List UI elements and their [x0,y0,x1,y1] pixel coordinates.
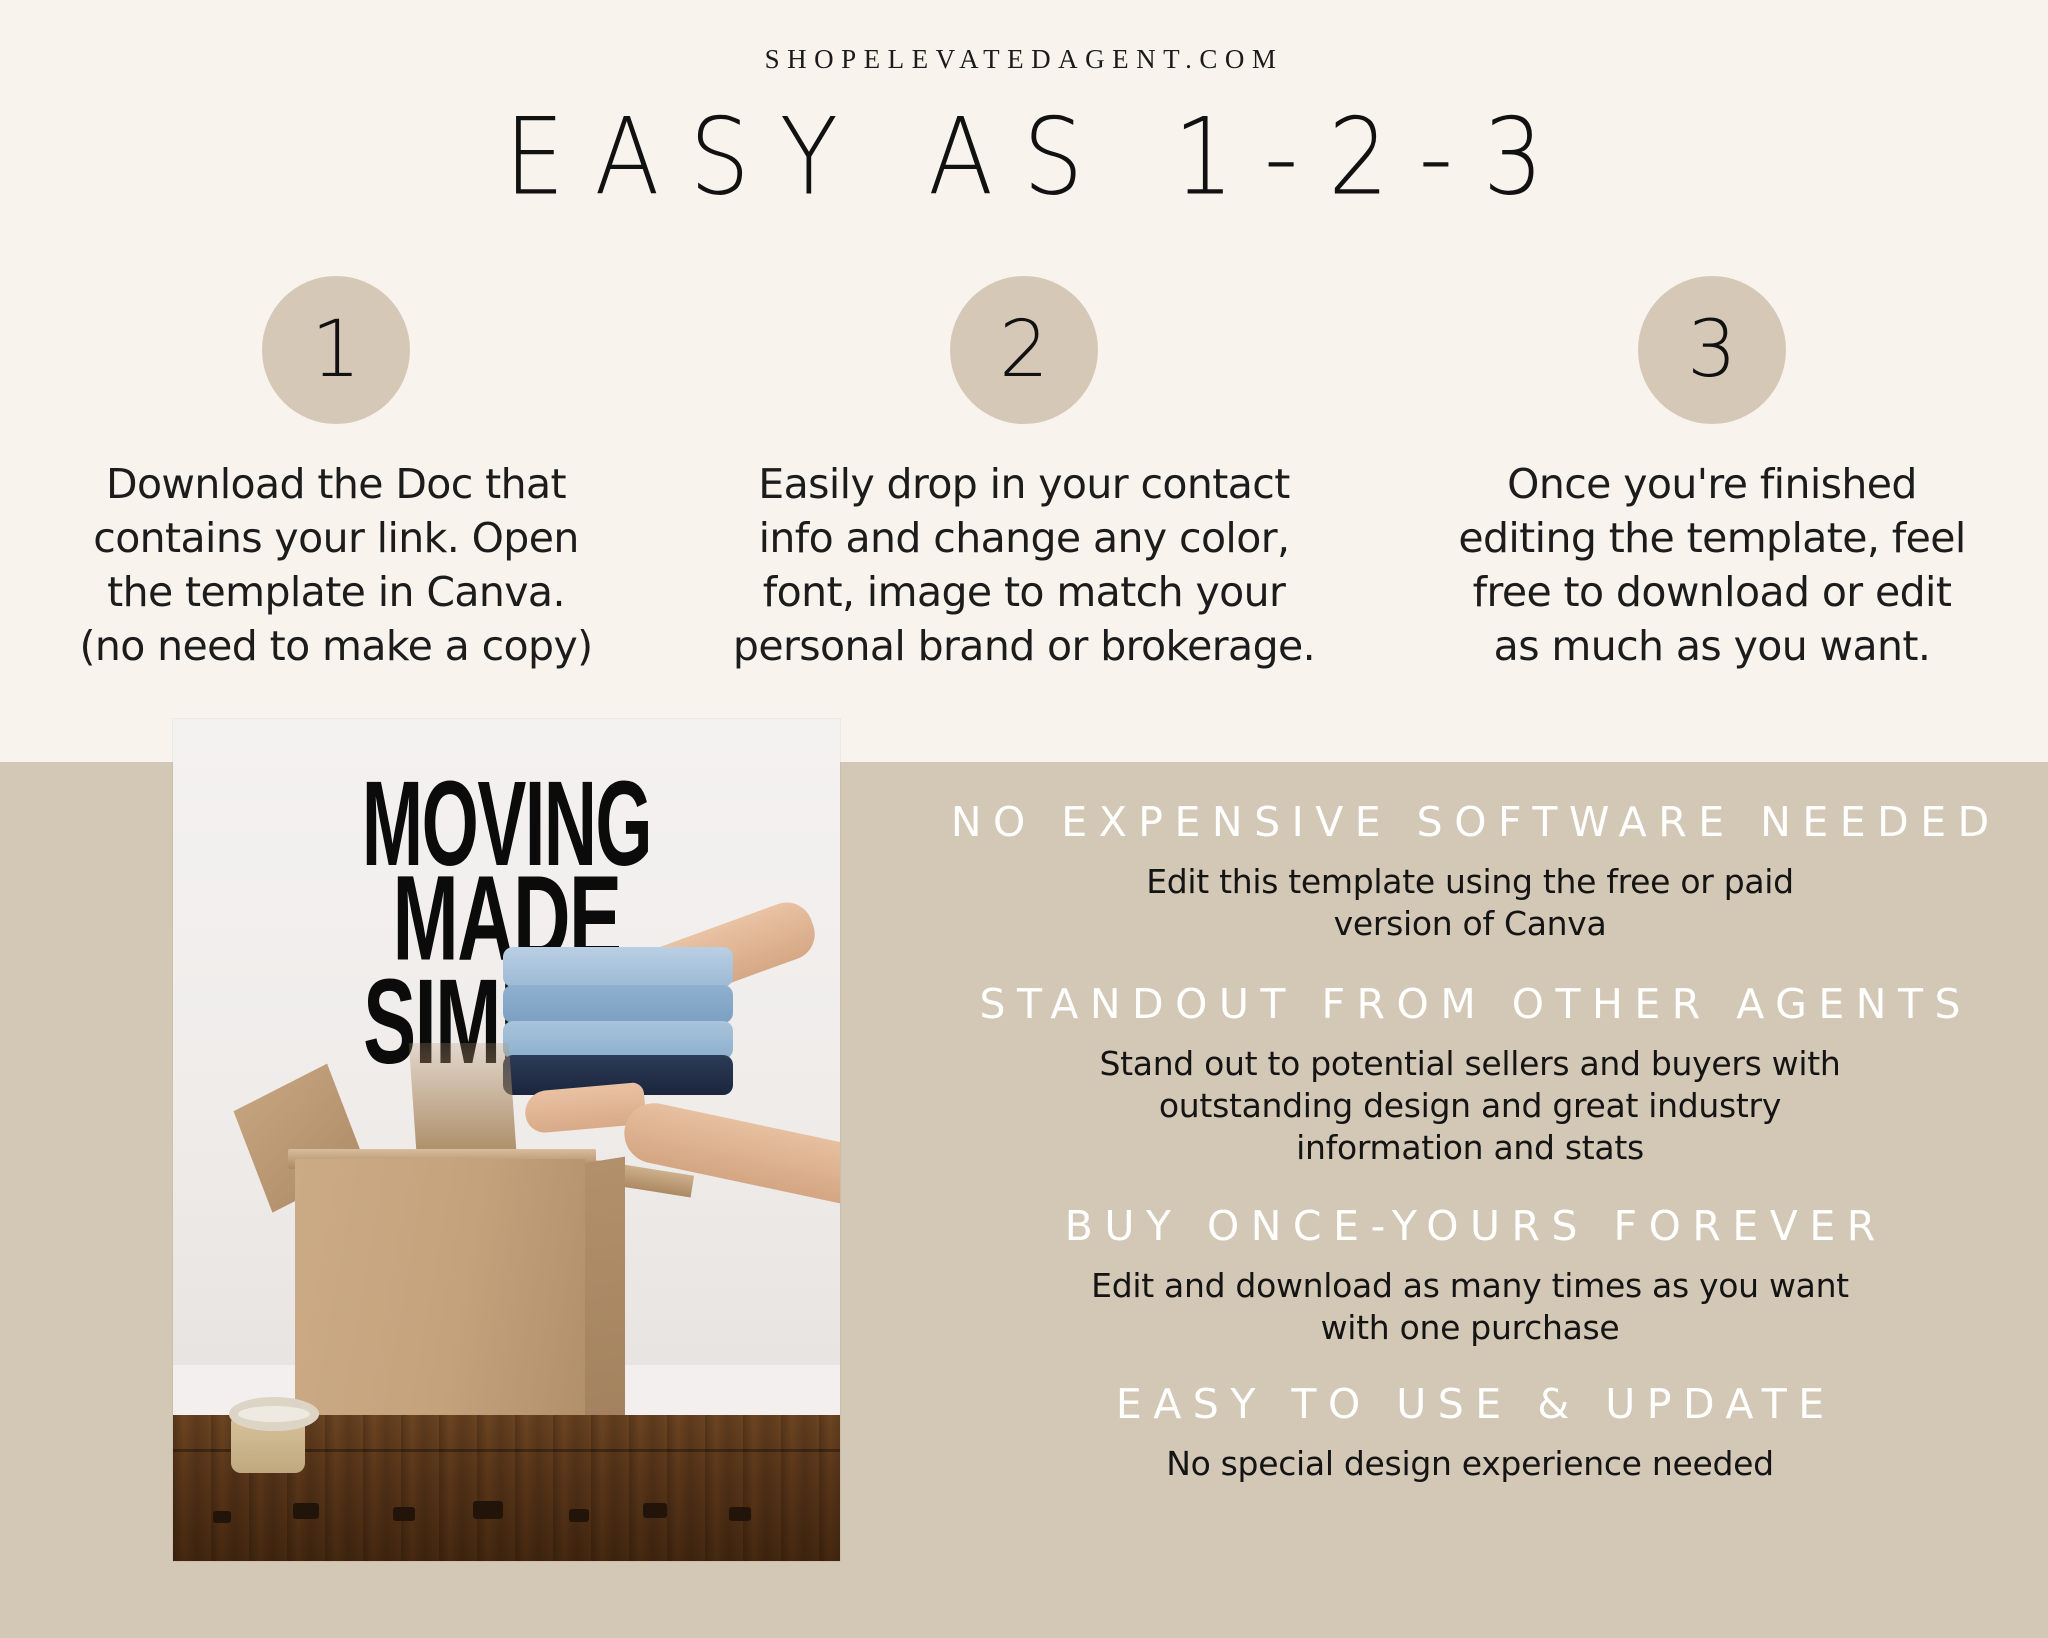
box-side-panel [585,1157,625,1443]
feature-3-line-2: with one purchase [892,1307,2048,1349]
step-3: 3 Once you're finished editing the templ… [1376,276,2048,673]
step-2-line-4: personal brand or brokerage. [694,619,1354,673]
step-description-2: Easily drop in your contact info and cha… [694,457,1354,673]
feature-1-line-2: version of Canva [892,903,2048,945]
page-title: EASY AS 1-2-3 [0,96,2048,219]
cardboard-box [295,1159,585,1451]
feature-title-4: EASY TO USE & UPDATE [892,1382,2048,1427]
feature-title-1: NO EXPENSIVE SOFTWARE NEEDED [892,800,2048,845]
step-3-line-1: Once you're finished [1382,457,2042,511]
feature-3-line-1: Edit and download as many times as you w… [892,1265,2048,1307]
feature-2-line-3: information and stats [892,1127,2048,1169]
folded-jeans-stack [503,949,733,1101]
step-1-line-4: (no need to make a copy) [6,619,666,673]
step-1-line-3: the template in Canva. [6,565,666,619]
step-number-badge-1: 1 [262,276,410,424]
step-2-line-3: font, image to match your [694,565,1354,619]
feature-body-3: Edit and download as many times as you w… [892,1265,2048,1348]
step-2: 2 Easily drop in your contact info and c… [688,276,1360,673]
feature-body-4: No special design experience needed [892,1443,2048,1485]
feature-no-expensive-software: NO EXPENSIVE SOFTWARE NEEDED Edit this t… [892,800,2048,944]
feature-title-2: STANDOUT FROM OTHER AGENTS [892,982,2048,1027]
step-1-line-1: Download the Doc that [6,457,666,511]
step-number-badge-3: 3 [1638,276,1786,424]
feature-easy-to-use-and-update: EASY TO USE & UPDATE No special design e… [892,1382,2048,1485]
jeans-layer-2 [503,985,733,1023]
feature-1-line-1: Edit this template using the free or pai… [892,861,2048,903]
step-2-line-2: info and change any color, [694,511,1354,565]
features-list: NO EXPENSIVE SOFTWARE NEEDED Edit this t… [892,800,2048,1485]
step-3-line-2: editing the template, feel [1382,511,2042,565]
step-number-badge-2: 2 [950,276,1098,424]
infographic-page: SHOPELEVATEDAGENT.COM EASY AS 1-2-3 1 Do… [0,0,2048,1638]
feature-body-1: Edit this template using the free or pai… [892,861,2048,944]
site-url: SHOPELEVATEDAGENT.COM [0,44,2048,75]
product-photo-card: MOVING MADE SIMPLE [173,719,840,1561]
step-2-line-1: Easily drop in your contact [694,457,1354,511]
tape-roll-top [229,1397,319,1431]
jeans-layer-1 [503,947,733,987]
feature-standout-from-other-agents: STANDOUT FROM OTHER AGENTS Stand out to … [892,982,2048,1168]
step-3-line-3: free to download or edit [1382,565,2042,619]
jeans-layer-3 [503,1021,733,1059]
feature-2-line-2: outstanding design and great industry [892,1085,2048,1127]
step-3-line-4: as much as you want. [1382,619,2042,673]
step-description-3: Once you're finished editing the templat… [1382,457,2042,673]
feature-2-line-1: Stand out to potential sellers and buyer… [892,1043,2048,1085]
step-1-line-2: contains your link. Open [6,511,666,565]
step-1: 1 Download the Doc that contains your li… [0,276,672,673]
feature-body-2: Stand out to potential sellers and buyer… [892,1043,2048,1168]
steps-row: 1 Download the Doc that contains your li… [0,276,2048,673]
step-description-1: Download the Doc that contains your link… [6,457,666,673]
feature-buy-once-yours-forever: BUY ONCE-YOURS FOREVER Edit and download… [892,1204,2048,1348]
box-flap-back [409,1043,517,1163]
feature-4-line-1: No special design experience needed [892,1443,2048,1485]
feature-title-3: BUY ONCE-YOURS FOREVER [892,1204,2048,1249]
